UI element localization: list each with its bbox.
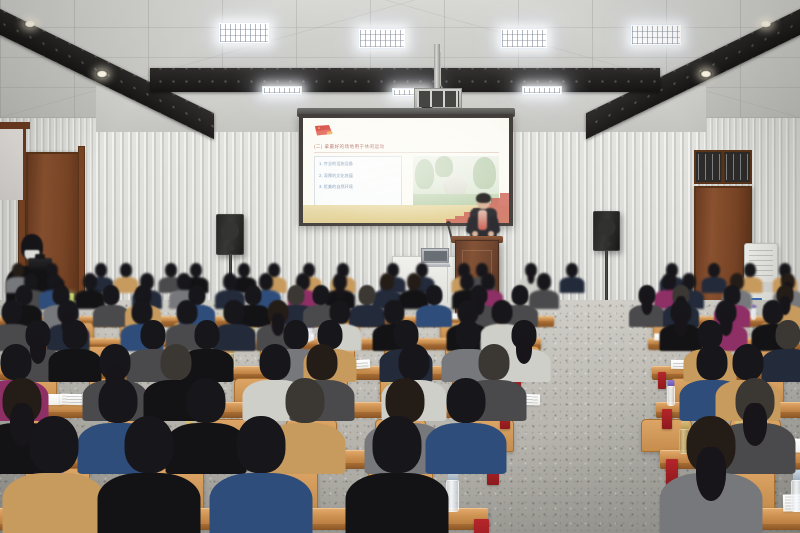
audience-shoulders bbox=[559, 277, 584, 293]
speaker-tweeter bbox=[603, 241, 611, 247]
downlight-right-inner bbox=[700, 70, 712, 78]
bottle-body bbox=[791, 480, 800, 512]
pa-speaker-right bbox=[593, 211, 620, 251]
slide-step-bar bbox=[500, 193, 509, 223]
audience-member bbox=[2, 416, 105, 533]
water-bottle bbox=[667, 380, 675, 406]
slide-step-bar bbox=[455, 216, 464, 223]
audience-head bbox=[236, 416, 285, 473]
slide-emblem-icon bbox=[314, 124, 336, 138]
audience-shoulders bbox=[2, 473, 105, 533]
transom-mullion bbox=[722, 152, 725, 182]
light-grille bbox=[632, 26, 680, 44]
water-bottle bbox=[791, 470, 800, 512]
audience-head bbox=[446, 378, 485, 423]
ceiling-light-5 bbox=[262, 86, 302, 95]
audience-member bbox=[659, 416, 762, 533]
pa-speaker-left bbox=[216, 214, 244, 255]
audience-head bbox=[732, 344, 763, 380]
ceiling-projector bbox=[414, 88, 462, 110]
ceiling-light-2 bbox=[358, 28, 406, 49]
projector-cage-bars bbox=[417, 91, 459, 107]
slide-item: 3. 优美的自然环境 bbox=[319, 185, 397, 189]
audience-head bbox=[426, 285, 443, 305]
slide-photo-tree bbox=[415, 159, 434, 189]
audience-head bbox=[566, 263, 578, 277]
slide-heading-marker: (二) bbox=[314, 144, 323, 149]
audience-ponytail bbox=[642, 296, 653, 315]
seat-number-tag bbox=[658, 372, 666, 389]
audience-head bbox=[708, 263, 720, 277]
audience-head bbox=[372, 416, 421, 473]
audience-shoulders bbox=[97, 473, 200, 533]
slide-heading: (二) 拿最好的场地用于休闲运动 bbox=[314, 144, 499, 153]
speaker-tweeter bbox=[226, 245, 234, 251]
ceiling-light-7 bbox=[522, 86, 562, 95]
presenter-inner-top bbox=[478, 210, 487, 230]
slide-photo-tree bbox=[473, 157, 495, 189]
light-grille bbox=[264, 88, 300, 93]
door-right-transom bbox=[694, 150, 752, 184]
audience-head bbox=[124, 416, 173, 473]
pa-speaker-right-stand bbox=[605, 251, 608, 303]
light-grille bbox=[524, 88, 560, 93]
audience-head bbox=[160, 344, 191, 380]
audience-member bbox=[345, 416, 448, 533]
projector-cable bbox=[440, 52, 450, 90]
slide-heading-text: 拿最好的场地用于休闲运动 bbox=[325, 144, 385, 149]
downlight-right-outer bbox=[760, 20, 772, 28]
audience-member bbox=[559, 263, 584, 293]
light-grille bbox=[502, 30, 546, 47]
audience-head bbox=[0, 344, 31, 380]
speaker-cone bbox=[598, 219, 615, 236]
bottle-body bbox=[667, 386, 675, 406]
audience-member bbox=[97, 416, 200, 533]
audience-member bbox=[209, 416, 312, 533]
downlight-left-inner bbox=[96, 70, 108, 78]
audience-head bbox=[478, 344, 509, 380]
audience-head bbox=[259, 344, 290, 380]
audience-head bbox=[306, 344, 337, 380]
presenter-laptop[interactable] bbox=[421, 248, 449, 263]
light-grille bbox=[360, 30, 404, 47]
presenter-hair bbox=[476, 193, 491, 203]
slide-item: 1. 齐全的设施设备 bbox=[319, 162, 397, 166]
laptop-screen bbox=[423, 251, 446, 261]
ceiling-light-4 bbox=[630, 24, 682, 46]
audience-shoulders bbox=[345, 473, 448, 533]
audience-head bbox=[120, 263, 132, 277]
slide-photo-tree bbox=[435, 156, 452, 177]
window-left-head bbox=[0, 122, 30, 129]
seat-number-tag bbox=[474, 519, 489, 533]
audience-head bbox=[29, 416, 78, 473]
downlight-left-outer bbox=[24, 20, 36, 28]
ceiling-light-3 bbox=[500, 28, 548, 49]
projector-pole-mount bbox=[434, 44, 440, 92]
slide-item: 2. 深厚的文化底蕴 bbox=[319, 174, 397, 178]
light-grille bbox=[220, 24, 268, 42]
audience-head bbox=[398, 344, 429, 380]
ceiling-light-1 bbox=[218, 22, 270, 44]
bottle-cap bbox=[668, 380, 675, 386]
speaker-cone bbox=[221, 222, 239, 240]
slide-bullet-box: 1. 齐全的设施设备 2. 深厚的文化底蕴 3. 优美的自然环境 bbox=[314, 156, 402, 208]
lecture-hall-photo: (二) 拿最好的场地用于休闲运动 1. 齐全的设施设备 2. 深厚的文化底蕴 3… bbox=[0, 0, 800, 533]
audience-ponytail bbox=[696, 447, 726, 501]
audience-head bbox=[537, 273, 551, 290]
audience-head bbox=[103, 285, 120, 305]
window-left bbox=[0, 128, 26, 200]
audience-shoulders bbox=[209, 473, 312, 533]
